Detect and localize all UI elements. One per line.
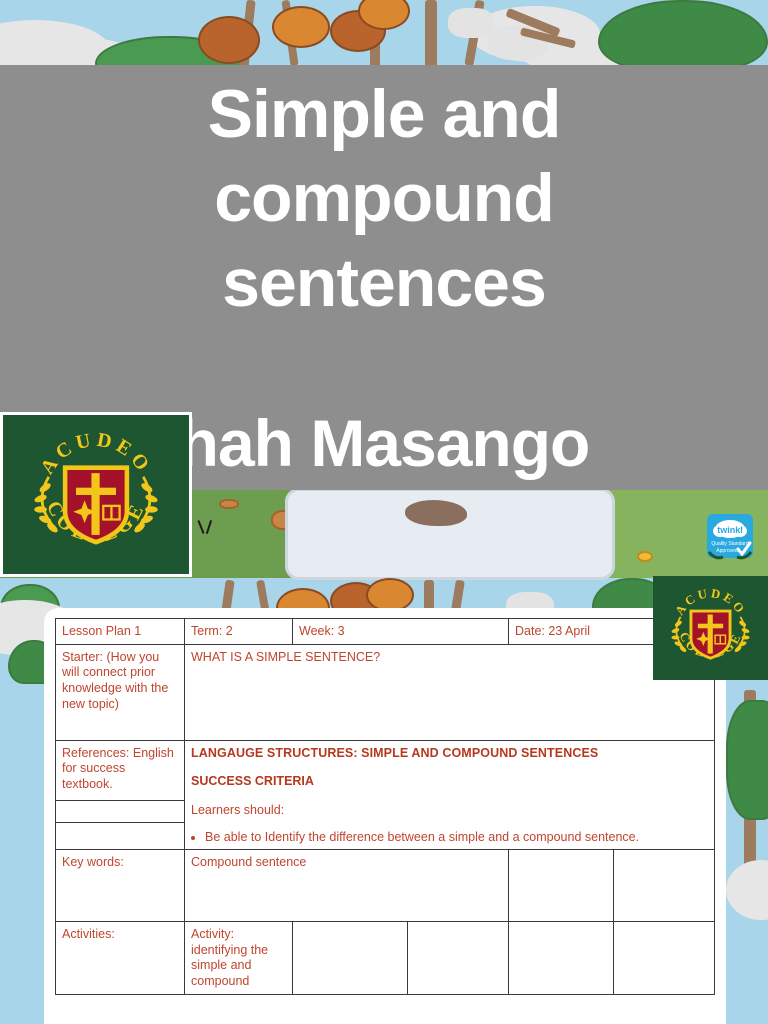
tree-trunk-icon (425, 0, 437, 68)
success-criteria-list: Be able to Identify the difference betwe… (205, 830, 708, 846)
cell-key-words-label: Key words: (56, 850, 185, 922)
cell-activities-blank-4 (614, 922, 715, 995)
cell-key-words-blank-2 (614, 850, 715, 922)
tree-canopy-icon (198, 16, 260, 64)
cell-starter-label: Starter: (How you will connect prior kno… (56, 644, 185, 740)
cell-success-criteria: LANGAUGE STRUCTURES: SIMPLE AND COMPOUND… (185, 740, 715, 850)
table-row-header: Lesson Plan 1 Term: 2 Week: 3 Date: 23 A… (56, 619, 715, 645)
svg-text:Quality Standard: Quality Standard (711, 541, 748, 547)
cell-week: Week: 3 (293, 619, 509, 645)
bush-icon (726, 700, 768, 820)
grass-tuft-icon (196, 520, 218, 534)
title-line-3: sentences (0, 241, 768, 325)
success-criteria-heading: SUCCESS CRITERIA (191, 774, 708, 790)
acudeo-college-logo: ACUDEO COLLEGE (0, 412, 192, 577)
title-line-2: compound (0, 156, 768, 240)
cell-activities-value: Activity: identifying the simple and com… (185, 922, 293, 995)
language-structures-heading: LANGAUGE STRUCTURES: SIMPLE AND COMPOUND… (191, 746, 708, 762)
cell-lesson-plan: Lesson Plan 1 (56, 619, 185, 645)
list-item: Be able to Identify the difference betwe… (205, 830, 708, 846)
svg-text:Approved: Approved (716, 548, 738, 554)
cell-term: Term: 2 (185, 619, 293, 645)
learners-should-label: Learners should: (191, 803, 708, 819)
tree-canopy-icon (366, 578, 414, 612)
cell-activities-blank-1 (293, 922, 408, 995)
cell-activities-blank-2 (408, 922, 509, 995)
table-row-references: References: English for success textbook… (56, 740, 715, 800)
tree-canopy-icon (272, 6, 330, 48)
title-line-1: Simple and (0, 72, 768, 156)
page-title: Simple and compound sentences (0, 72, 768, 325)
cell-starter-value: WHAT IS A SIMPLE SENTENCE? (185, 644, 715, 740)
cell-references-blank-1 (56, 800, 185, 823)
snow-branch-icon (448, 8, 494, 38)
svg-text:twinkl: twinkl (717, 525, 743, 535)
cell-references-label: References: English for success textbook… (56, 740, 185, 800)
table-row-activities: Activities: Activity: identifying the si… (56, 922, 715, 995)
acudeo-college-logo-secondary: ACUDEO COLLEGE (653, 576, 768, 680)
sheep-spot-icon (405, 500, 467, 526)
twinkl-quality-badge: twinkl Quality Standard Approved (705, 512, 755, 562)
cell-activities-blank-3 (509, 922, 614, 995)
table-row-key-words: Key words: Compound sentence (56, 850, 715, 922)
lesson-plan-card: Lesson Plan 1 Term: 2 Week: 3 Date: 23 A… (44, 608, 726, 1024)
cell-key-words-value: Compound sentence (185, 850, 509, 922)
cell-key-words-blank-1 (509, 850, 614, 922)
cell-activities-label: Activities: (56, 922, 185, 995)
lesson-plan-table: Lesson Plan 1 Term: 2 Week: 3 Date: 23 A… (55, 618, 715, 995)
cell-references-blank-2 (56, 823, 185, 850)
chick-icon (637, 551, 653, 562)
table-row-starter: Starter: (How you will connect prior kno… (56, 644, 715, 740)
dirt-patch-icon (219, 499, 239, 509)
